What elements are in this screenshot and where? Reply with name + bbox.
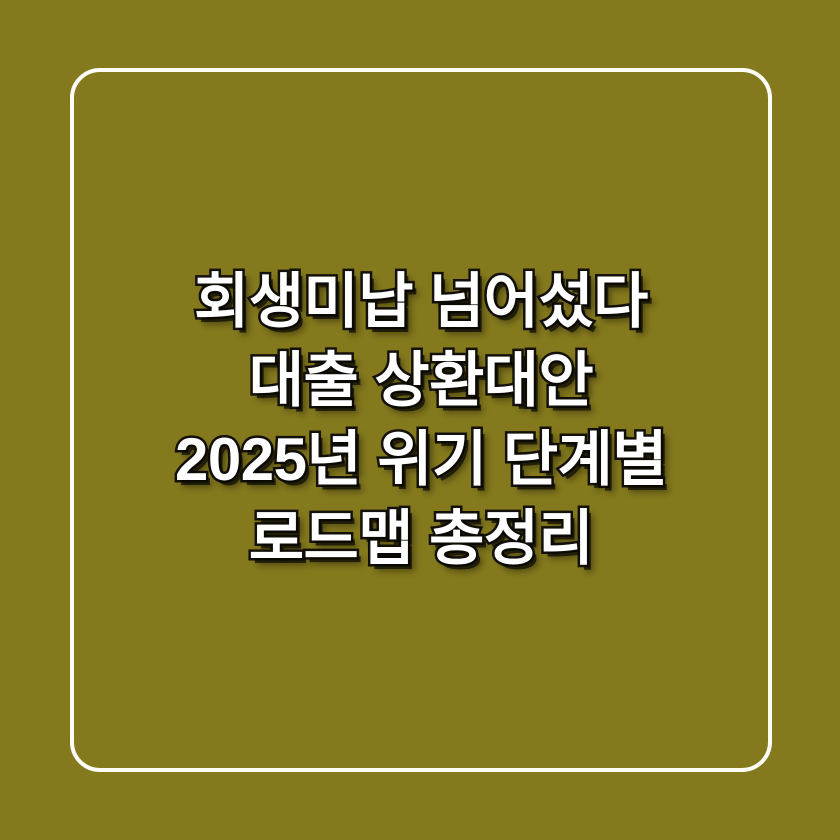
thumbnail-card: 회생미납 넘어섰다 대출 상환대안 2025년 위기 단계별 로드맵 총정리 [0,0,840,840]
headline-line-3: 2025년 위기 단계별 [84,420,758,499]
headline-text-block: 회생미납 넘어섰다 대출 상환대안 2025년 위기 단계별 로드맵 총정리 [70,68,772,772]
headline-line-4: 로드맵 총정리 [84,499,758,578]
headline-line-2: 대출 상환대안 [84,341,758,420]
headline-line-1: 회생미납 넘어섰다 [84,262,758,341]
